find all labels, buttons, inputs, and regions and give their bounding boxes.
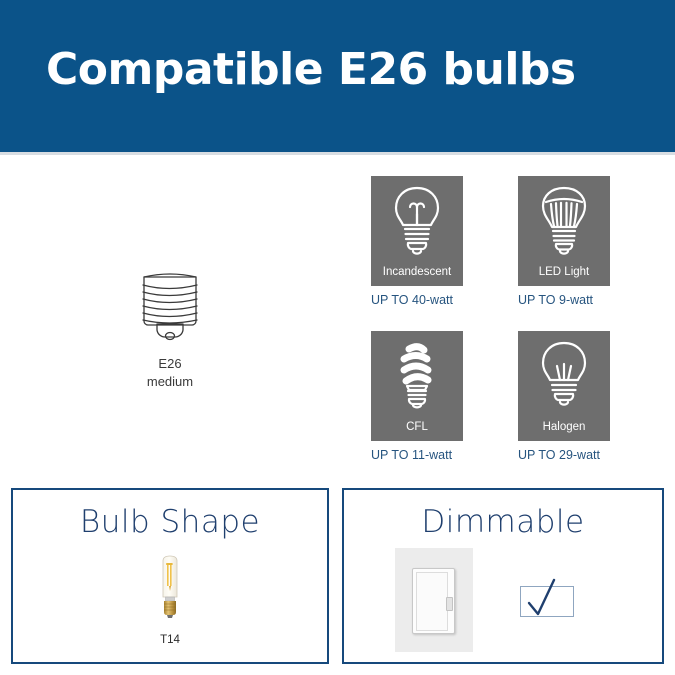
bulb-shape-box: Bulb Shape <box>11 488 329 664</box>
bulb-shape-title: Bulb Shape <box>13 504 327 540</box>
bulb-type-name: LED Light <box>518 266 610 278</box>
header-banner: Compatible E26 bulbs <box>0 0 675 152</box>
dimmable-title: Dimmable <box>344 504 662 540</box>
bulb-shape-caption: T14 <box>13 634 327 646</box>
bulb-type-card: LED Light <box>518 176 610 286</box>
bulb-type-incandescent[interactable]: Incandescent UP TO 40-watt <box>371 176 463 307</box>
dimmer-paddle <box>416 572 448 631</box>
bulb-type-led-light[interactable]: LED Light UP TO 9-watt <box>518 176 610 307</box>
bulb-type-name: Halogen <box>518 421 610 433</box>
bulb-type-halogen[interactable]: Halogen UP TO 29-watt <box>518 331 610 462</box>
dimmer-slider <box>446 597 453 611</box>
bulb-type-wattage: UP TO 40-watt <box>371 293 463 307</box>
bulb-type-wattage: UP TO 9-watt <box>518 293 610 307</box>
dimmer-plate <box>412 568 455 634</box>
bulb-type-cfl[interactable]: CFL UP TO 11-watt <box>371 331 463 462</box>
content-area: E26 medium <box>0 155 675 675</box>
bulb-type-name: Incandescent <box>371 266 463 278</box>
bulb-shape-figure: T14 <box>13 552 327 646</box>
bulb-type-wattage: UP TO 29-watt <box>518 448 610 462</box>
dimmer-switch-icon <box>395 548 473 652</box>
bulb-type-name: CFL <box>371 421 463 433</box>
bulb-type-card: Halogen <box>518 331 610 441</box>
t14-tubular-bulb-icon <box>153 613 187 630</box>
page-title: Compatible E26 bulbs <box>46 46 576 94</box>
e26-base-block: E26 medium <box>108 265 232 390</box>
dimmable-box: Dimmable <box>342 488 664 664</box>
e26-base-label: E26 medium <box>108 355 232 390</box>
dimmable-check-box <box>520 586 574 617</box>
bulb-type-card: CFL <box>371 331 463 441</box>
bulb-type-card: Incandescent <box>371 176 463 286</box>
e26-screw-base-icon <box>108 265 232 346</box>
bulb-type-wattage: UP TO 11-watt <box>371 448 463 462</box>
